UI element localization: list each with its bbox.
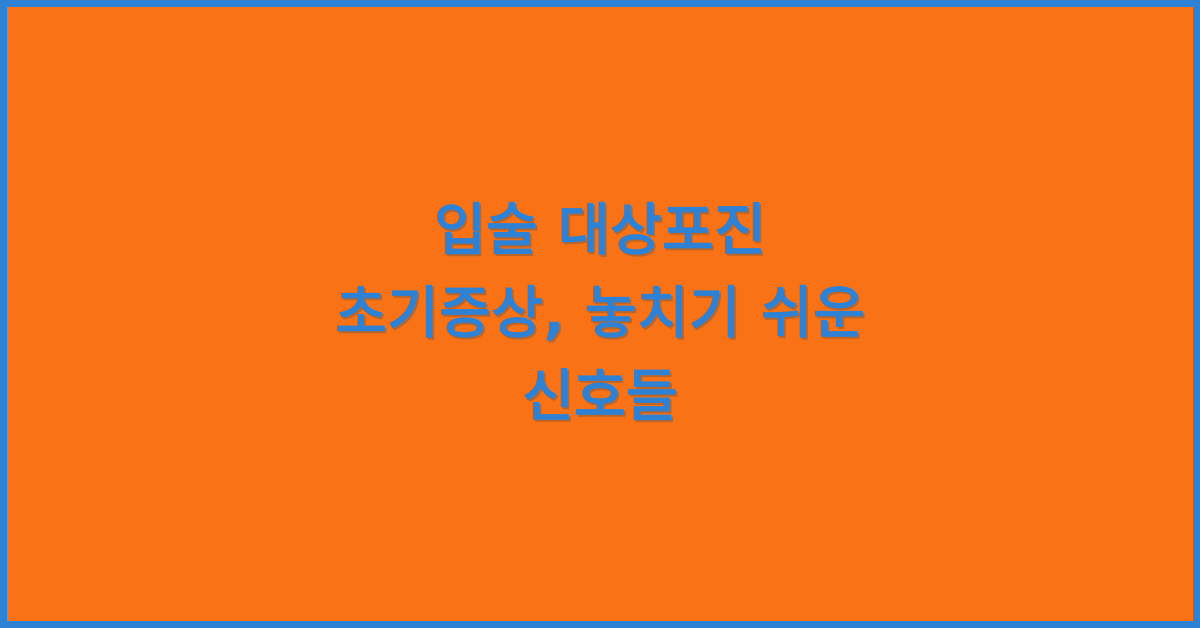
card-background-plate: 입술 대상포진 초기증상, 놓치기 쉬운 신호들 (7, 7, 1193, 621)
headline-block: 입술 대상포진 초기증상, 놓치기 쉬운 신호들 (7, 190, 1193, 439)
headline-line-1: 입술 대상포진 (47, 190, 1153, 273)
headline-line-3: 신호들 (47, 356, 1153, 439)
headline-line-2: 초기증상, 놓치기 쉬운 (47, 273, 1153, 356)
thumbnail-canvas: 입술 대상포진 초기증상, 놓치기 쉬운 신호들 (0, 0, 1200, 628)
